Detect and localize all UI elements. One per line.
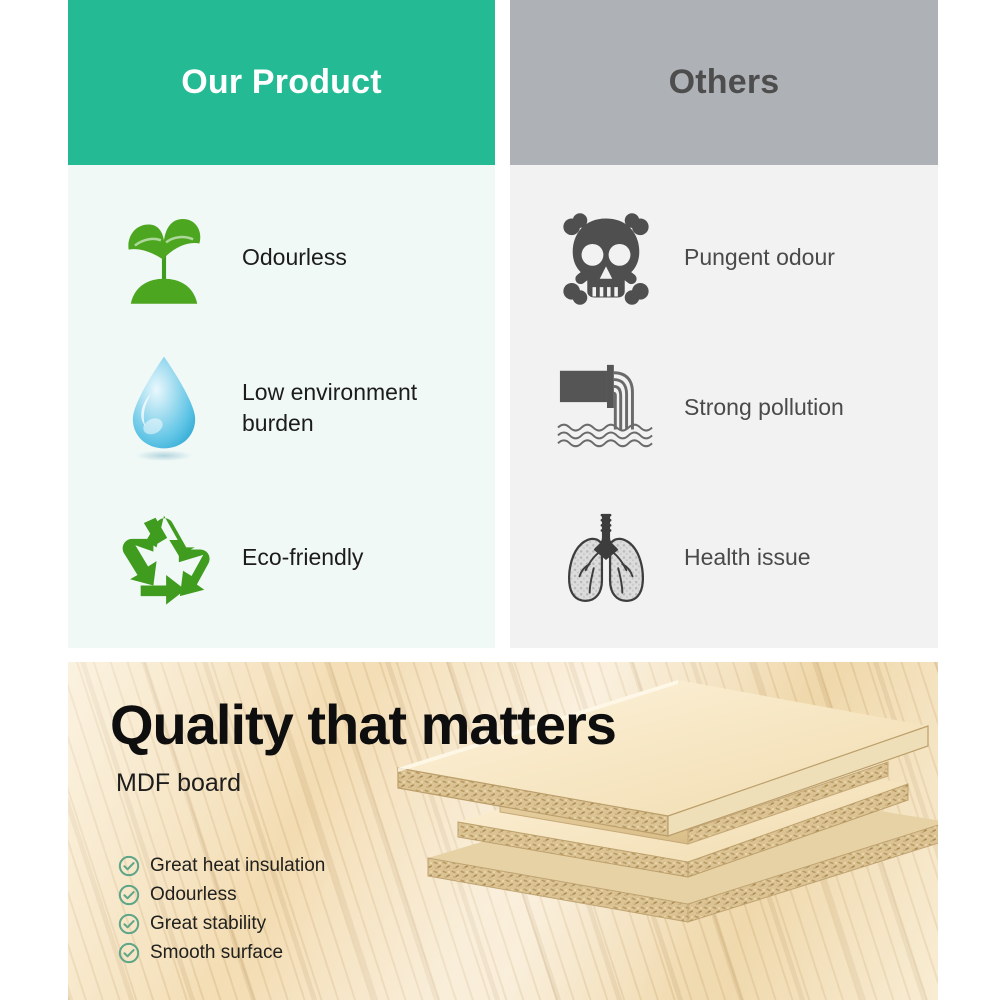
quality-feature-list: Great heat insulation Odourless Great st… xyxy=(118,855,325,971)
list-item: Great heat insulation xyxy=(118,855,325,877)
list-item-label: Smooth surface xyxy=(150,942,283,964)
quality-section: Quality that matters MDF board Great hea… xyxy=(68,662,938,1000)
column-header-our-product: Our Product xyxy=(68,0,495,165)
water-droplet-icon xyxy=(104,348,224,468)
column-body-others: Pungent odour xyxy=(510,165,938,648)
feature-row: Health issue xyxy=(510,483,938,633)
column-body-our-product: Odourless xyxy=(68,165,495,648)
list-item-label: Great heat insulation xyxy=(150,855,325,877)
comparison-section: Our Product Odourless xyxy=(0,0,1000,650)
comparison-column-others: Others xyxy=(510,0,938,648)
feature-row: Low environment burden xyxy=(68,333,495,483)
recycle-icon xyxy=(104,498,224,618)
feature-label: Low environment burden xyxy=(242,377,472,439)
feature-label: Pungent odour xyxy=(684,242,835,273)
page-title: Quality that matters xyxy=(110,697,616,753)
feature-label: Eco-friendly xyxy=(242,542,363,573)
feature-row: Pungent odour xyxy=(510,183,938,333)
check-circle-icon xyxy=(118,855,140,877)
column-title: Our Product xyxy=(181,63,382,102)
plant-sprout-icon xyxy=(104,198,224,318)
feature-row: Strong pollution xyxy=(510,333,938,483)
feature-row: Eco-friendly xyxy=(68,483,495,633)
column-title: Others xyxy=(669,63,780,102)
comparison-column-our-product: Our Product Odourless xyxy=(68,0,495,648)
list-item-label: Great stability xyxy=(150,913,266,935)
page-subtitle: MDF board xyxy=(116,769,616,798)
feature-label: Strong pollution xyxy=(684,392,844,423)
list-item: Great stability xyxy=(118,913,325,935)
check-circle-icon xyxy=(118,884,140,906)
skull-crossbones-icon xyxy=(546,198,666,318)
lungs-icon xyxy=(546,498,666,618)
list-item: Smooth surface xyxy=(118,942,325,964)
quality-heading-block: Quality that matters MDF board xyxy=(110,697,616,798)
feature-label: Odourless xyxy=(242,242,347,273)
check-circle-icon xyxy=(118,913,140,935)
check-circle-icon xyxy=(118,942,140,964)
feature-row: Odourless xyxy=(68,183,495,333)
feature-label: Health issue xyxy=(684,542,811,573)
pollution-pipe-icon xyxy=(546,348,666,468)
list-item-label: Odourless xyxy=(150,884,237,906)
column-header-others: Others xyxy=(510,0,938,165)
list-item: Odourless xyxy=(118,884,325,906)
